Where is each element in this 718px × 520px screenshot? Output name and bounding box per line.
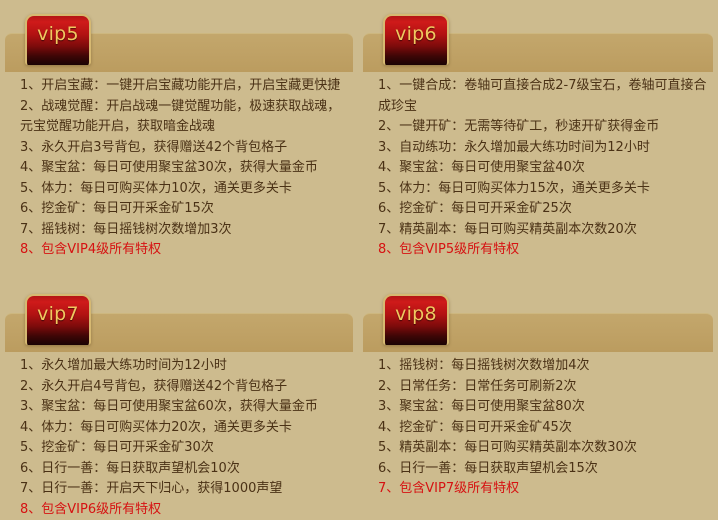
vip-panel-vip6: vip6 1、一键合成：卷轴可直接合成2-7级宝石，卷轴可直接合成珍宝 2、一键… [358, 0, 718, 280]
list-item: 1、摇钱树：每日摇钱树次数增加4次 [378, 356, 708, 377]
privilege-list-vip5: 1、开启宝藏：一键开启宝藏功能开启，开启宝藏更快捷 2、战魂觉醒：开启战魂一键觉… [0, 72, 358, 261]
list-item: 6、挖金矿：每日可开采金矿15次 [20, 199, 348, 220]
privilege-list-vip6: 1、一键合成：卷轴可直接合成2-7级宝石，卷轴可直接合成珍宝 2、一键开矿：无需… [358, 72, 718, 261]
tab-label: vip8 [395, 303, 437, 325]
list-item: 5、精英副本：每日可购买精英副本次数30次 [378, 438, 708, 459]
list-item: 4、聚宝盆：每日可使用聚宝盆40次 [378, 158, 708, 179]
list-item: 2、日常任务：日常任务可刷新2次 [378, 377, 708, 398]
vip-panel-vip7: vip7 1、永久增加最大练功时间为12小时 2、永久开启4号背包，获得赠送42… [0, 280, 358, 520]
panel-header-vip7: vip7 [0, 280, 358, 352]
list-item: 3、聚宝盆：每日可使用聚宝盆60次，获得大量金币 [20, 397, 348, 418]
list-item-inherited: 8、包含VIP6级所有特权 [20, 500, 348, 520]
list-item: 3、永久开启3号背包，获得赠送42个背包格子 [20, 138, 348, 159]
tab-badge-vip5[interactable]: vip5 [25, 14, 91, 65]
list-item: 4、聚宝盆：每日可使用聚宝盆30次，获得大量金币 [20, 158, 348, 179]
list-item-inherited: 7、包含VIP7级所有特权 [378, 479, 708, 500]
panel-header-vip6: vip6 [358, 0, 718, 72]
list-item: 1、开启宝藏：一键开启宝藏功能开启，开启宝藏更快捷 [20, 76, 348, 97]
list-item: 4、挖金矿：每日可开采金矿45次 [378, 418, 708, 439]
privilege-list-vip7: 1、永久增加最大练功时间为12小时 2、永久开启4号背包，获得赠送42个背包格子… [0, 352, 358, 520]
list-item: 2、一键开矿：无需等待矿工，秒速开矿获得金币 [378, 117, 708, 138]
list-item-inherited: 8、包含VIP5级所有特权 [378, 240, 708, 261]
vip-privileges-grid: vip5 1、开启宝藏：一键开启宝藏功能开启，开启宝藏更快捷 2、战魂觉醒：开启… [0, 0, 718, 520]
tab-badge-vip8[interactable]: vip8 [383, 294, 449, 345]
vip-panel-vip5: vip5 1、开启宝藏：一键开启宝藏功能开启，开启宝藏更快捷 2、战魂觉醒：开启… [0, 0, 358, 280]
list-item: 3、自动练功：永久增加最大练功时间为12小时 [378, 138, 708, 159]
list-item: 4、体力：每日可购买体力20次，通关更多关卡 [20, 418, 348, 439]
panel-header-vip5: vip5 [0, 0, 358, 72]
list-item: 1、一键合成：卷轴可直接合成2-7级宝石，卷轴可直接合成珍宝 [378, 76, 708, 117]
privilege-list-vip8: 1、摇钱树：每日摇钱树次数增加4次 2、日常任务：日常任务可刷新2次 3、聚宝盆… [358, 352, 718, 500]
list-item: 6、挖金矿：每日可开采金矿25次 [378, 199, 708, 220]
list-item: 7、精英副本：每日可购买精英副本次数20次 [378, 220, 708, 241]
tab-badge-vip6[interactable]: vip6 [383, 14, 449, 65]
list-item: 5、体力：每日可购买体力15次，通关更多关卡 [378, 179, 708, 200]
list-item: 7、摇钱树：每日摇钱树次数增加3次 [20, 220, 348, 241]
panel-header-vip8: vip8 [358, 280, 718, 352]
list-item: 7、日行一善：开启天下归心，获得1000声望 [20, 479, 348, 500]
list-item: 6、日行一善：每日获取声望机会10次 [20, 459, 348, 480]
list-item: 5、体力：每日可购买体力10次，通关更多关卡 [20, 179, 348, 200]
list-item: 1、永久增加最大练功时间为12小时 [20, 356, 348, 377]
list-item: 6、日行一善：每日获取声望机会15次 [378, 459, 708, 480]
vip-panel-vip8: vip8 1、摇钱树：每日摇钱树次数增加4次 2、日常任务：日常任务可刷新2次 … [358, 280, 718, 520]
tab-label: vip6 [395, 23, 437, 45]
list-item: 2、战魂觉醒：开启战魂一键觉醒功能，极速获取战魂，元宝觉醒功能开启，获取暗金战魂 [20, 97, 348, 138]
tab-label: vip7 [37, 303, 79, 325]
list-item-inherited: 8、包含VIP4级所有特权 [20, 240, 348, 261]
tab-label: vip5 [37, 23, 79, 45]
list-item: 5、挖金矿：每日可开采金矿30次 [20, 438, 348, 459]
list-item: 3、聚宝盆：每日可使用聚宝盆80次 [378, 397, 708, 418]
tab-badge-vip7[interactable]: vip7 [25, 294, 91, 345]
list-item: 2、永久开启4号背包，获得赠送42个背包格子 [20, 377, 348, 398]
